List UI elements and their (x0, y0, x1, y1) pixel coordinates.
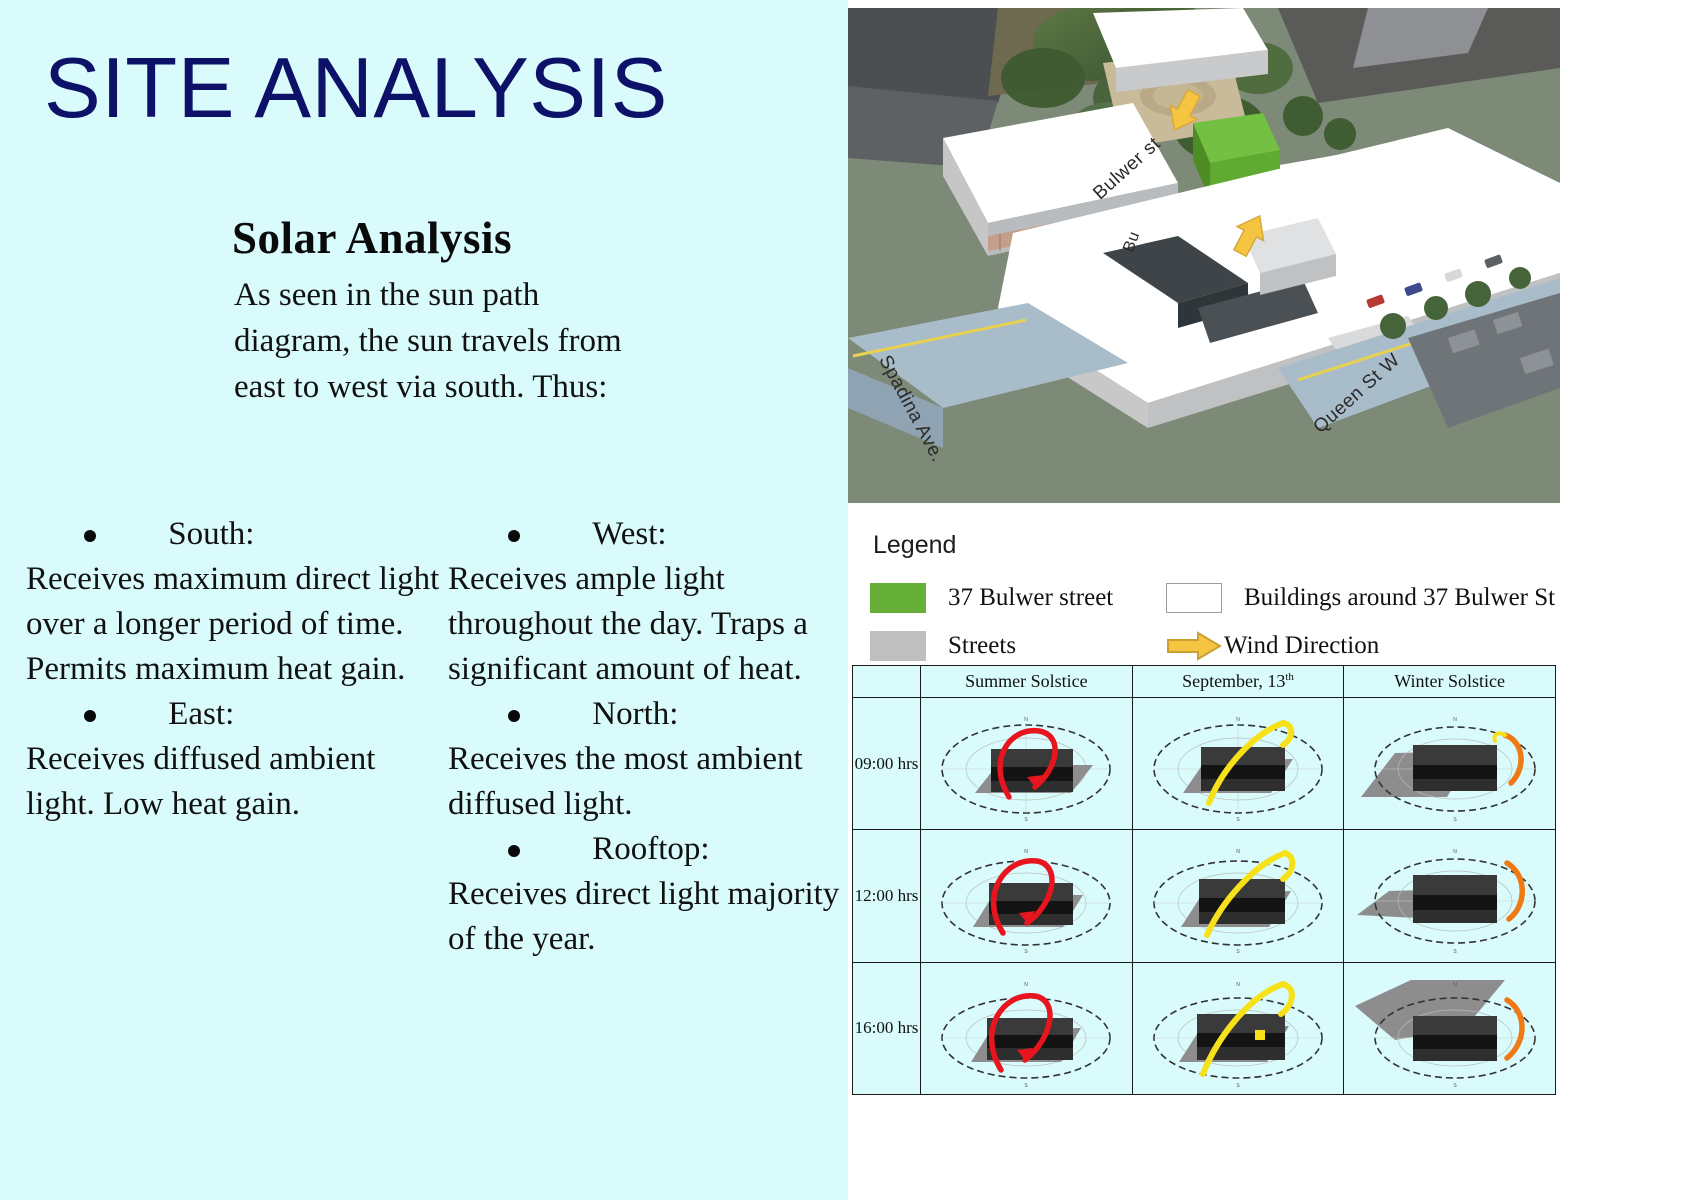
svg-text:N: N (1236, 849, 1240, 855)
bullet-body-east: Receives diffused ambient light. Low hea… (26, 737, 446, 827)
sunpath-cell-winter-0900: N S (1344, 698, 1556, 830)
bullet-label-east: East: (168, 696, 234, 732)
page-title: SITE ANALYSIS (44, 46, 668, 131)
bullet-head-south: South: (26, 512, 446, 557)
sunpath-cell-september-1600: N S (1132, 962, 1344, 1094)
svg-text:N: N (1025, 849, 1029, 855)
svg-text:N: N (1453, 849, 1457, 855)
bullet-column-right: West: Receives ample light throughout th… (448, 512, 848, 962)
right-content-panel: Bulwer st Bu Spadina Ave. Queen St W Leg… (848, 0, 1707, 1200)
bullet-dot-icon (508, 845, 520, 857)
bullet-head-west: West: (448, 512, 848, 557)
table-row-1600: 16:00 hrs N (853, 962, 1556, 1094)
aerial-site-map: Bulwer st Bu Spadina Ave. Queen St W (848, 8, 1560, 503)
bullet-item-north: North: Receives the most ambient diffuse… (448, 692, 848, 827)
solar-shadow-study-table: Summer Solstice September, 13th Winter S… (852, 665, 1556, 1095)
legend-entry-streets: Streets (870, 631, 1016, 661)
bullet-head-north: North: (448, 692, 848, 737)
bullet-label-rooftop: Rooftop: (592, 831, 709, 867)
sunpath-cell-winter-1600: N S (1344, 962, 1556, 1094)
svg-text:N: N (1025, 717, 1029, 723)
sunpath-cell-summer-1600: N S (921, 962, 1133, 1094)
bullet-body-rooftop: Receives direct light majority of the ye… (448, 872, 848, 962)
table-header-summer-solstice: Summer Solstice (921, 666, 1133, 698)
left-content-panel: SITE ANALYSIS Solar Analysis As seen in … (0, 0, 848, 1200)
bullet-head-rooftop: Rooftop: (448, 827, 848, 872)
sunpath-cell-september-0900: N S (1132, 698, 1344, 830)
bullet-label-west: West: (592, 516, 666, 552)
sunpath-cell-summer-0900: N S (921, 698, 1133, 830)
legend-swatch-white (1166, 583, 1222, 613)
svg-text:N: N (1453, 982, 1457, 988)
row-label-0900: 09:00 hrs (853, 698, 921, 830)
legend-entry-surrounding-buildings: Buildings around 37 Bulwer St (1166, 583, 1555, 613)
bullet-item-south: South: Receives maximum direct light ove… (26, 512, 446, 692)
table-header-september-13: September, 13th (1132, 666, 1344, 698)
svg-text:N: N (1236, 982, 1240, 988)
svg-text:S: S (1236, 949, 1240, 955)
table-header-row: Summer Solstice September, 13th Winter S… (853, 666, 1556, 698)
table-row-0900: 09:00 hrs N (853, 698, 1556, 830)
sunpath-cell-winter-1200: N S (1344, 830, 1556, 962)
bullet-item-rooftop: Rooftop: Receives direct light majority … (448, 827, 848, 962)
table-corner-cell (853, 666, 921, 698)
legend-swatch-gray (870, 631, 926, 661)
svg-text:S: S (1236, 817, 1240, 823)
header-superscript: th (1285, 671, 1294, 683)
table-header-winter-solstice: Winter Solstice (1344, 666, 1556, 698)
bullet-dot-icon (508, 530, 520, 542)
legend-panel: Legend 37 Bulwer street Streets Building… (848, 503, 1560, 663)
bullet-dot-icon (84, 710, 96, 722)
legend-label-wind-direction: Wind Direction (1224, 632, 1379, 660)
row-label-1600: 16:00 hrs (853, 962, 921, 1094)
row-label-1200: 12:00 hrs (853, 830, 921, 962)
bullet-body-north: Receives the most ambient diffused light… (448, 737, 848, 827)
legend-label-surrounding-buildings: Buildings around 37 Bulwer St (1244, 584, 1555, 612)
bullet-item-east: East: Receives diffused ambient light. L… (26, 692, 446, 827)
svg-text:S: S (1453, 949, 1457, 955)
legend-label-streets: Streets (948, 632, 1016, 660)
table-row-1200: 12:00 hrs N (853, 830, 1556, 962)
legend-label-site-building: 37 Bulwer street (948, 584, 1113, 612)
bullet-body-south: Receives maximum direct light over a lon… (26, 557, 446, 692)
aerial-map-graphic (848, 8, 1560, 503)
bullet-dot-icon (508, 710, 520, 722)
legend-title: Legend (873, 531, 956, 560)
solar-analysis-heading: Solar Analysis (232, 212, 512, 264)
legend-entry-site-building: 37 Bulwer street (870, 583, 1113, 613)
bullet-label-north: North: (592, 696, 678, 732)
bullet-item-west: West: Receives ample light throughout th… (448, 512, 848, 692)
svg-text:N: N (1236, 717, 1240, 723)
solar-analysis-intro: As seen in the sun path diagram, the sun… (234, 272, 634, 410)
svg-text:S: S (1025, 1083, 1029, 1089)
svg-text:N: N (1453, 717, 1457, 723)
bullet-body-west: Receives ample light throughout the day.… (448, 557, 848, 692)
sunpath-cell-september-1200: N S (1132, 830, 1344, 962)
presentation-slide: SITE ANALYSIS Solar Analysis As seen in … (0, 0, 1707, 1200)
bullet-head-east: East: (26, 692, 446, 737)
sunpath-cell-summer-1200: N S (921, 830, 1133, 962)
legend-entry-wind-direction: Wind Direction (1166, 631, 1379, 661)
svg-text:S: S (1453, 1083, 1457, 1089)
bullet-dot-icon (84, 530, 96, 542)
svg-text:S: S (1025, 949, 1029, 955)
legend-swatch-green (870, 583, 926, 613)
svg-text:S: S (1236, 1083, 1240, 1089)
svg-text:S: S (1025, 817, 1029, 823)
bullet-label-south: South: (168, 516, 254, 552)
svg-text:S: S (1453, 817, 1457, 823)
svg-text:N: N (1025, 982, 1029, 988)
wind-arrow-icon (1166, 631, 1222, 661)
bullet-column-left: South: Receives maximum direct light ove… (26, 512, 446, 827)
